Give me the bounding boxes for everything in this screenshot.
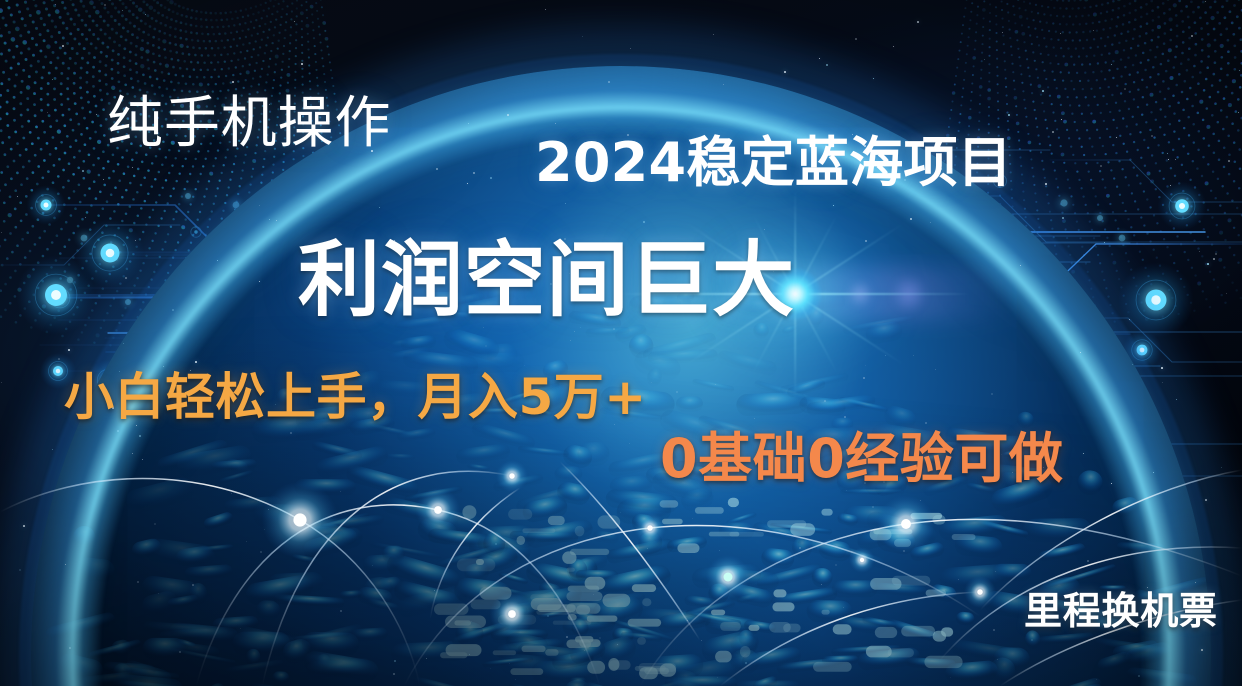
corner-tagline: 里程换机票 [1024,592,1218,630]
gold-benefit-line: 小白轻松上手，月入5万+ [64,372,647,422]
main-headline: 利润空间巨大 [298,240,795,322]
year-title: 2024稳定蓝海项目 [535,136,1012,190]
subtitle-mobile-operation: 纯手机操作 [107,96,391,152]
orange-benefit-line: 0基础0经验可做 [660,432,1063,486]
promotional-poster: 纯手机操作 2024稳定蓝海项目 利润空间巨大 小白轻松上手，月入5万+ 0基础… [0,0,1242,686]
text-layer: 纯手机操作 2024稳定蓝海项目 利润空间巨大 小白轻松上手，月入5万+ 0基础… [0,0,1242,686]
